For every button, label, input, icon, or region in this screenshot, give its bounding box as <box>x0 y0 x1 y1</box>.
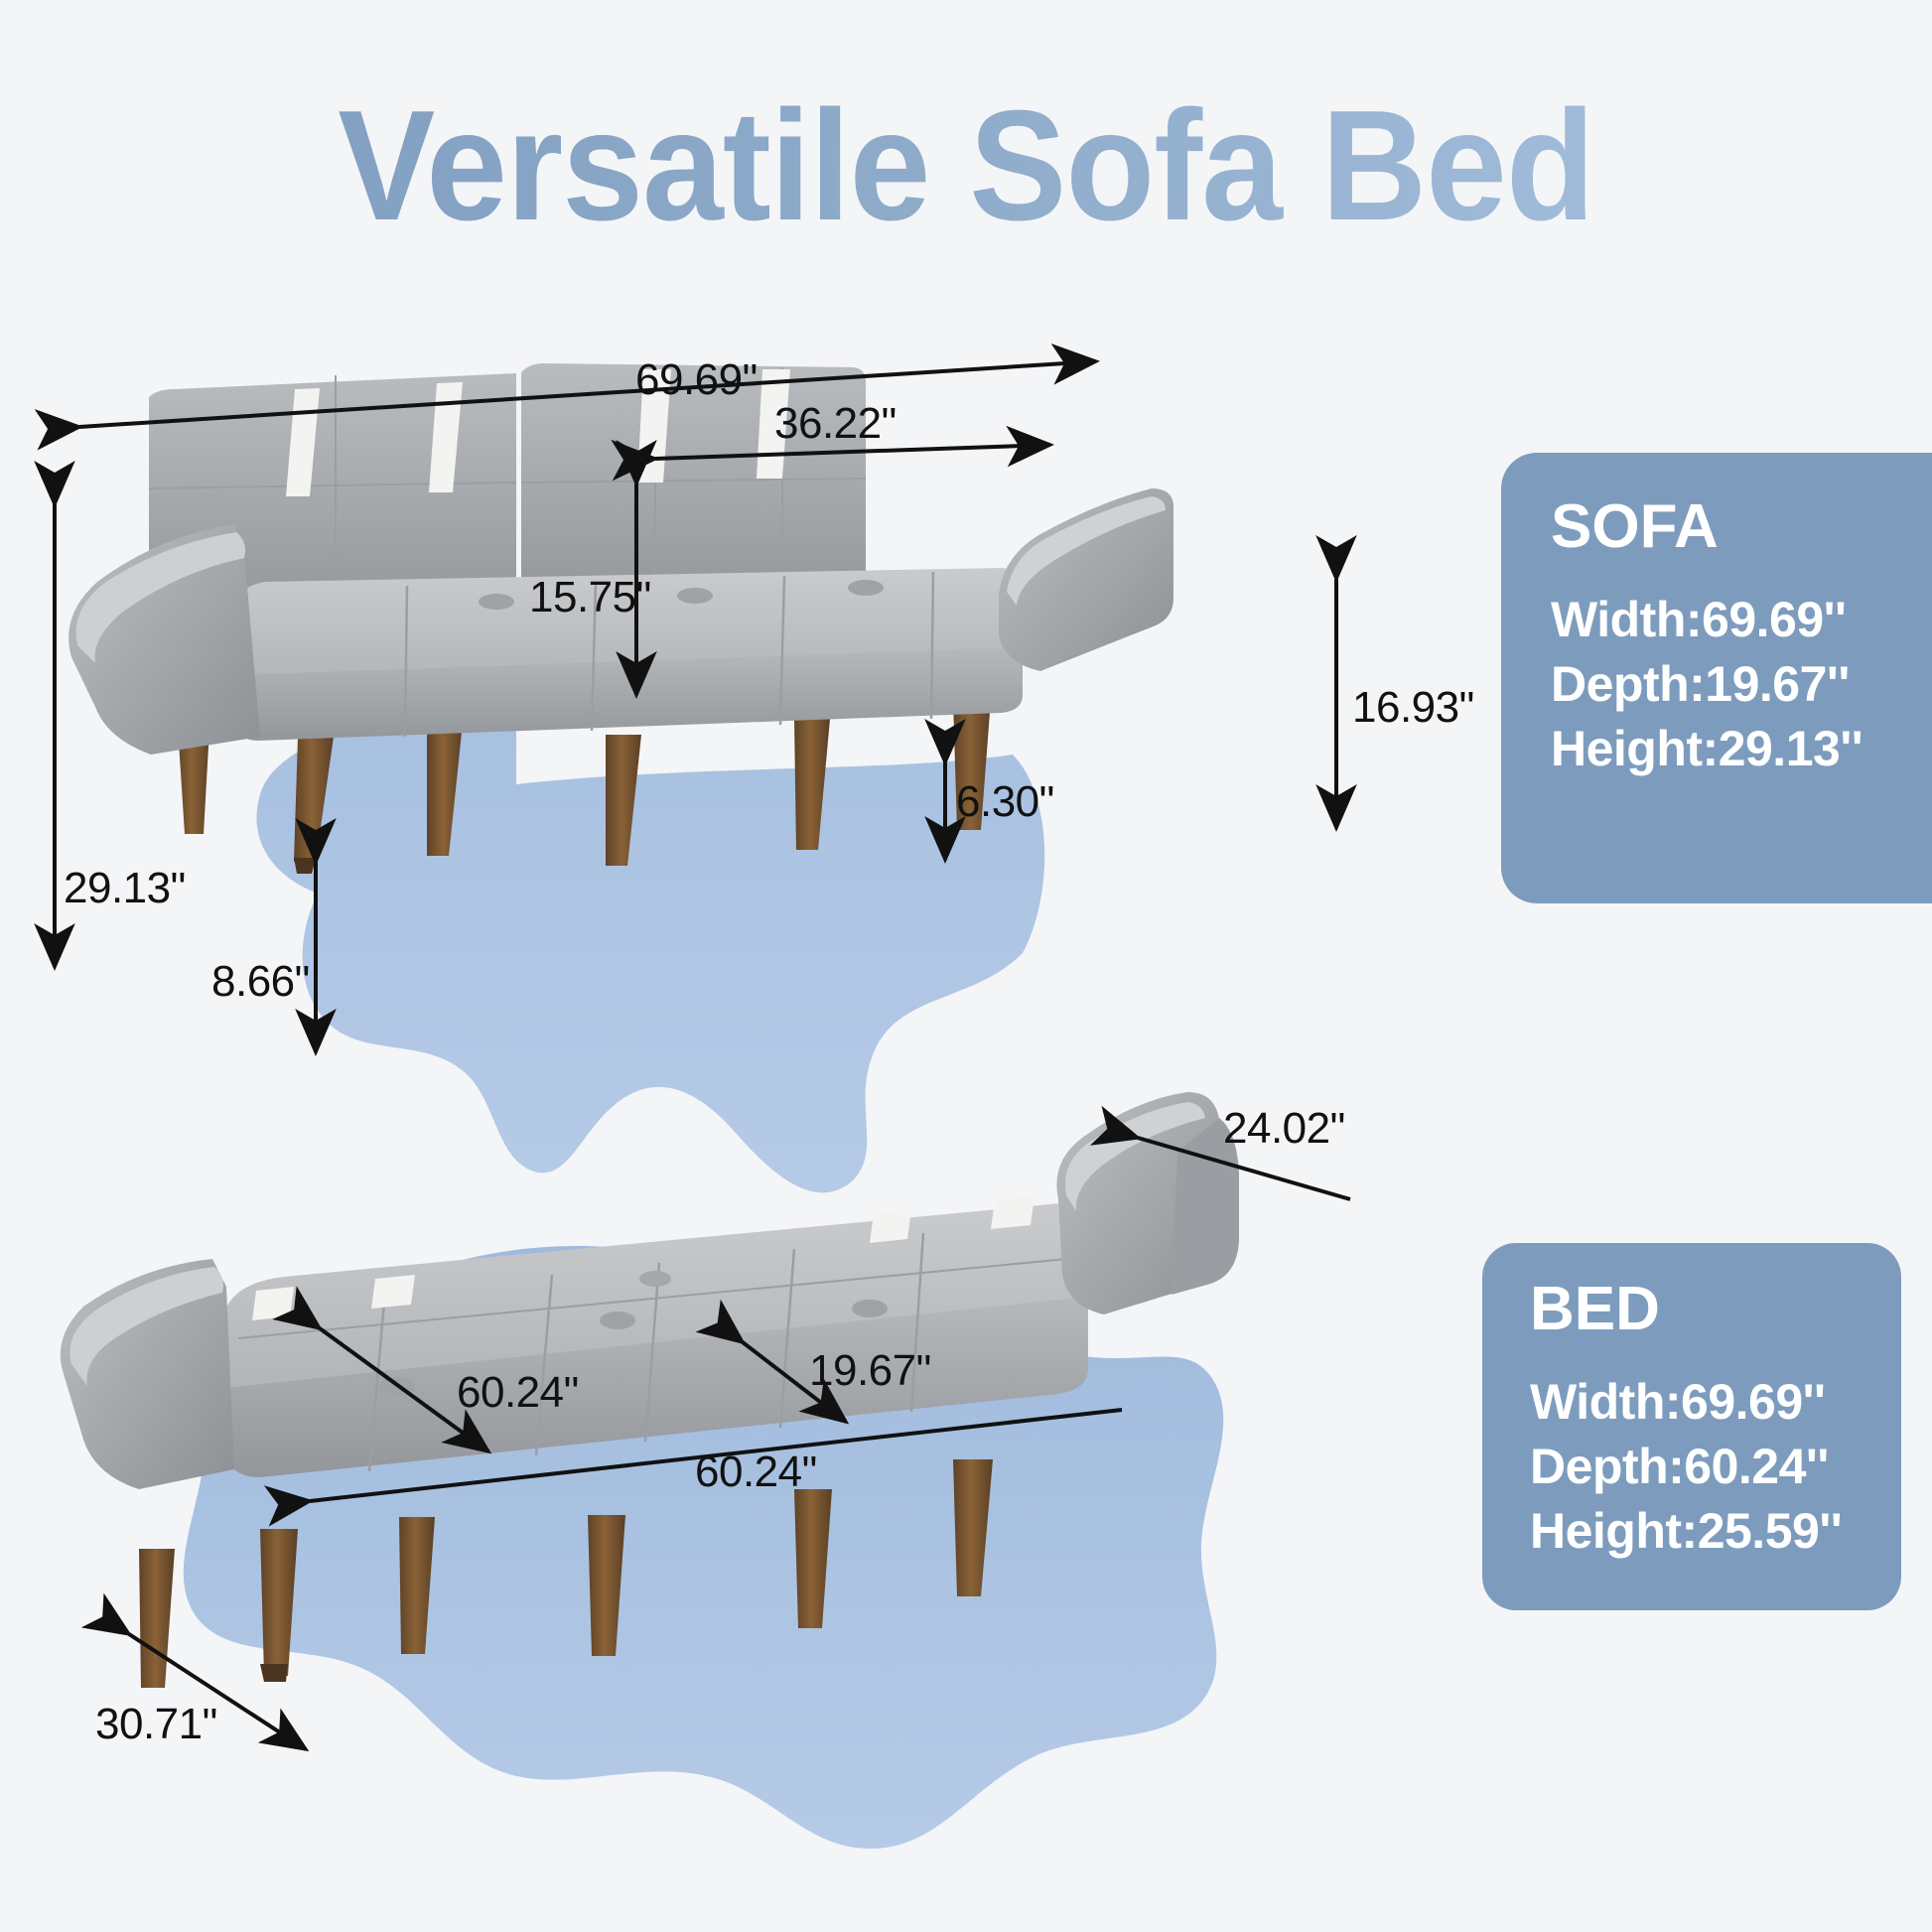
infographic-canvas: Versatile Sofa Bed <box>0 0 1932 1932</box>
bed-spec-card: BED Width:69.69'' Depth:60.24'' Height:2… <box>1482 1243 1901 1610</box>
sofa-card-width: Width:69.69'' <box>1551 588 1932 652</box>
dim-label-half-depth: 19.67" <box>809 1346 931 1396</box>
dim-label-leg-height: 8.66" <box>211 957 310 1007</box>
bed-card-depth: Depth:60.24'' <box>1530 1435 1901 1499</box>
arrow-overall-width <box>79 361 1096 427</box>
dim-label-overall-width: 69.69" <box>635 355 758 405</box>
sofa-card-heading: SOFA <box>1551 496 1932 558</box>
bed-card-heading: BED <box>1530 1279 1901 1340</box>
dim-label-bed-depth-upper: 60.24" <box>457 1368 579 1418</box>
bed-product-image <box>61 1092 1239 1688</box>
dim-label-armrest-length: 24.02" <box>1223 1104 1345 1154</box>
sofa-card-height: Height:29.13'' <box>1551 717 1932 781</box>
dim-label-backrest-width: 36.22" <box>774 399 897 449</box>
sofa-spec-card: SOFA Width:69.69'' Depth:19.67'' Height:… <box>1501 453 1932 903</box>
dim-label-cushion-thickness: 6.30" <box>956 777 1054 827</box>
page-title: Versatile Sofa Bed <box>68 87 1864 244</box>
dim-label-sofa-height: 29.13" <box>64 864 186 913</box>
sofa-card-depth: Depth:19.67'' <box>1551 652 1932 717</box>
bed-card-width: Width:69.69'' <box>1530 1370 1901 1435</box>
bed-background-blob <box>184 1246 1223 1849</box>
bed-card-height: Height:25.59'' <box>1530 1499 1901 1564</box>
sofa-background-blob <box>256 397 1044 1193</box>
dim-label-armrest-height: 16.93" <box>1352 683 1474 733</box>
dim-label-bed-height: 30.71" <box>95 1700 217 1749</box>
dim-label-backrest-height: 15.75" <box>529 573 651 622</box>
dim-label-bed-depth-lower: 60.24" <box>695 1448 817 1497</box>
